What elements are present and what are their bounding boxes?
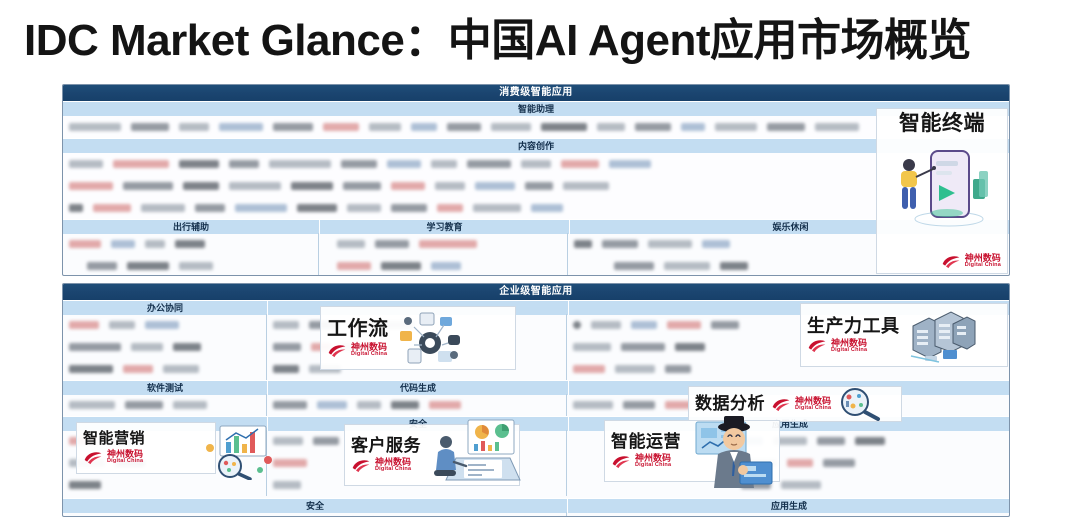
- logo-column-security: [63, 512, 567, 517]
- category-band-content-creation: 内容创作: [63, 138, 1009, 153]
- vendor-logo: [273, 481, 301, 489]
- vendor-logo: [597, 123, 625, 131]
- vendor-logo: [715, 123, 757, 131]
- vendor-logo: [391, 204, 427, 212]
- vendor-logo: [173, 401, 207, 409]
- vendor-logo: [711, 321, 739, 329]
- callout-title: 生产力工具: [807, 317, 900, 336]
- vendor-logo: [313, 437, 339, 445]
- callout-smart-marketing[interactable]: 智能营销 神州数码 Digital China: [76, 422, 216, 474]
- vendor-logo: [235, 204, 287, 212]
- vendor-logo: [391, 401, 419, 409]
- vendor-logo: [635, 123, 671, 131]
- category-band-intelligent-assistant: 智能助理: [63, 101, 1009, 116]
- vendor-logo: [591, 321, 621, 329]
- category-band-office-collaboration: 办公协同: [63, 300, 268, 315]
- vendor-logo: [343, 182, 381, 190]
- brand-name-en: Digital China: [375, 467, 411, 473]
- vendor-logo: [173, 343, 201, 351]
- vendor-logo: [375, 240, 409, 248]
- vendor-logo: [69, 481, 101, 489]
- vendor-logo: [609, 160, 651, 168]
- vendor-logo: [435, 182, 465, 190]
- vendor-logo: [665, 365, 691, 373]
- vendor-logo: [273, 401, 307, 409]
- vendor-logo: [531, 204, 563, 212]
- brand-name-en: Digital China: [107, 459, 143, 465]
- vendor-logo: [631, 321, 657, 329]
- vendor-logo: [614, 262, 654, 270]
- vendor-logo: [681, 123, 705, 131]
- vendor-logo: [541, 123, 587, 131]
- server-illustration: [905, 306, 977, 364]
- vendor-logo: [323, 123, 359, 131]
- vendor-logo: [623, 401, 655, 409]
- logo-grid-enterprise-bottom: [63, 512, 1009, 517]
- digital-china-logo-icon: [771, 397, 791, 412]
- chart-magnifier-illustration: [196, 424, 280, 480]
- vendor-logo: [521, 160, 551, 168]
- callout-title: 客户服务: [351, 437, 421, 455]
- vendor-logo: [123, 365, 153, 373]
- callout-title: 智能终端: [899, 113, 985, 135]
- vendor-logo: [179, 160, 219, 168]
- callout-smart-terminal[interactable]: 智能终端 神州数码 Digital China: [876, 108, 1008, 274]
- digital-china-brand: 神州数码 Digital China: [351, 458, 421, 473]
- vendor-logo: [69, 365, 113, 373]
- vendor-logo: [720, 262, 748, 270]
- logo-row: [567, 512, 1009, 517]
- vendor-logo: [219, 123, 263, 131]
- logo-row: [63, 314, 266, 336]
- vendor-logo: [131, 123, 169, 131]
- digital-china-logo-icon: [83, 450, 103, 465]
- logo-row: [63, 336, 266, 358]
- callout-productivity-tools[interactable]: 生产力工具 神州数码 Digital China: [800, 303, 1008, 367]
- callout-title: 工作流: [327, 319, 389, 340]
- vendor-logo: [123, 182, 173, 190]
- callout-title: 智能运营: [611, 433, 681, 451]
- logo-column-travel: [63, 233, 319, 276]
- vendor-logo: [69, 401, 115, 409]
- vendor-logo: [317, 401, 347, 409]
- digital-china-brand: 神州数码 Digital China: [771, 397, 831, 412]
- vendor-logo: [447, 123, 481, 131]
- vendor-logo: [815, 123, 859, 131]
- digital-china-logo-icon: [351, 458, 371, 473]
- logo-row: [63, 394, 266, 416]
- logo-row: [63, 233, 318, 255]
- brand-name-en: Digital China: [795, 406, 831, 412]
- magnifier-illustration: [836, 387, 882, 421]
- vendor-logo: [602, 240, 638, 248]
- vendor-logo: [664, 262, 710, 270]
- category-row-consumer-tertiary: 出行辅助 学习教育 娱乐休闲: [63, 219, 1009, 233]
- vendor-logo: [145, 240, 165, 248]
- vendor-logo: [855, 437, 885, 445]
- logo-row: [267, 394, 566, 416]
- vendor-logo: [69, 343, 121, 351]
- logo-grid-consumer-tertiary: [63, 233, 1009, 276]
- digital-china-logo-icon: [807, 338, 827, 353]
- logo-column-education: [319, 233, 568, 276]
- vendor-logo: [111, 240, 135, 248]
- logo-row: [63, 512, 566, 517]
- vendor-logo: [381, 262, 421, 270]
- category-band-code-generation: 代码生成: [268, 380, 569, 395]
- vendor-logo: [341, 160, 377, 168]
- vendor-logo: [69, 160, 103, 168]
- section-header-enterprise: 企业级智能应用: [63, 284, 1009, 300]
- category-band-learning-education: 学习教育: [320, 219, 570, 234]
- vendor-logo: [273, 365, 299, 373]
- vendor-logo: [69, 182, 113, 190]
- businessman-illustration: [688, 414, 784, 490]
- vendor-logo: [431, 160, 457, 168]
- brand-name-en: Digital China: [965, 263, 1001, 269]
- phone-illustration: [887, 139, 997, 231]
- vendor-logo: [337, 240, 365, 248]
- vendor-logo: [781, 481, 821, 489]
- logo-row: [63, 197, 1009, 219]
- callout-title: 数据分析: [695, 395, 765, 413]
- vendor-logo: [437, 204, 463, 212]
- vendor-logo: [767, 123, 805, 131]
- vendor-logo: [702, 240, 730, 248]
- logo-column-app-gen: [567, 512, 1009, 517]
- vendor-logo: [467, 160, 511, 168]
- digital-china-logo-icon: [327, 343, 347, 358]
- digital-china-brand: 神州数码 Digital China: [807, 338, 900, 353]
- digital-china-logo-icon: [611, 454, 631, 469]
- brand-name-en: Digital China: [351, 352, 387, 358]
- logo-row: [319, 233, 567, 255]
- vendor-logo: [525, 182, 553, 190]
- logo-grid-intelligent-assistant: [63, 116, 1009, 138]
- vendor-logo: [179, 123, 209, 131]
- section-header-consumer: 消费级智能应用: [63, 85, 1009, 101]
- vendor-logo: [574, 240, 592, 248]
- vendor-logo: [561, 160, 599, 168]
- vendor-logo: [387, 160, 421, 168]
- workflow-illustration: [394, 309, 466, 367]
- vendor-logo: [297, 204, 337, 212]
- vendor-logo: [675, 343, 705, 351]
- logo-column-testing: [63, 394, 267, 416]
- digital-china-brand: 神州数码 Digital China: [327, 343, 389, 358]
- logo-column-office: [63, 314, 267, 380]
- vendor-logo: [573, 321, 581, 329]
- vendor-logo: [429, 401, 461, 409]
- logo-row: [63, 153, 1009, 175]
- brand-name-en: Digital China: [831, 348, 867, 354]
- vendor-logo: [69, 204, 83, 212]
- logo-column-code-gen: [267, 394, 567, 416]
- category-band-app-generation-bottom: 应用生成: [568, 498, 1010, 513]
- vendor-logo: [229, 182, 281, 190]
- vendor-logo: [113, 160, 169, 168]
- vendor-logo: [491, 123, 531, 131]
- logo-grid-content-creation: [63, 153, 1009, 219]
- vendor-logo: [473, 204, 521, 212]
- digital-china-logo-icon: [941, 254, 961, 269]
- vendor-logo: [269, 160, 331, 168]
- panel-consumer-applications: 消费级智能应用 智能助理 内容创作: [62, 84, 1010, 276]
- vendor-logo: [125, 401, 163, 409]
- vendor-logo: [229, 160, 259, 168]
- vendor-logo: [273, 343, 301, 351]
- vendor-logo: [109, 321, 135, 329]
- vendor-logo: [127, 262, 169, 270]
- vendor-logo: [419, 240, 477, 248]
- vendor-logo: [291, 182, 333, 190]
- vendor-logo: [615, 365, 655, 373]
- laptop-person-illustration: [432, 418, 528, 492]
- vendor-logo: [431, 262, 461, 270]
- vendor-logo: [823, 459, 855, 467]
- brand-name-en: Digital China: [635, 463, 671, 469]
- vendor-logo: [183, 182, 219, 190]
- digital-china-brand: 神州数码 Digital China: [941, 254, 1001, 269]
- logo-row: [63, 255, 318, 276]
- vendor-logo: [87, 262, 117, 270]
- logo-row: [319, 255, 567, 276]
- digital-china-brand: 神州数码 Digital China: [83, 450, 145, 465]
- vendor-logo: [347, 204, 381, 212]
- vendor-logo: [411, 123, 437, 131]
- category-row-enterprise-bottom: 安全 应用生成: [63, 498, 1009, 512]
- vendor-logo: [573, 365, 605, 373]
- vendor-logo: [573, 343, 611, 351]
- callout-workflow[interactable]: 工作流 神州数码 Digital China: [320, 306, 516, 370]
- page-title: IDC Market Glance：中国AI Agent应用市场概览: [24, 12, 1064, 70]
- logo-row: [63, 358, 266, 380]
- vendor-logo: [175, 240, 205, 248]
- vendor-logo: [195, 204, 225, 212]
- vendor-logo: [145, 321, 179, 329]
- logo-row: [63, 116, 1009, 138]
- callout-title: 智能营销: [83, 431, 145, 447]
- vendor-logo: [163, 365, 199, 373]
- vendor-logo: [391, 182, 425, 190]
- vendor-logo: [69, 240, 101, 248]
- category-band-travel-assistance: 出行辅助: [63, 219, 320, 234]
- vendor-logo: [337, 262, 371, 270]
- vendor-logo: [817, 437, 845, 445]
- logo-row: [63, 175, 1009, 197]
- vendor-logo: [357, 401, 381, 409]
- category-band-security-bottom: 安全: [63, 498, 568, 513]
- vendor-logo: [369, 123, 401, 131]
- vendor-logo: [69, 321, 99, 329]
- vendor-logo: [787, 459, 813, 467]
- vendor-logo: [141, 204, 185, 212]
- vendor-logo: [475, 182, 515, 190]
- category-band-software-testing: 软件测试: [63, 380, 268, 395]
- vendor-logo: [273, 123, 313, 131]
- vendor-logo: [93, 204, 131, 212]
- digital-china-brand: 神州数码 Digital China: [611, 454, 681, 469]
- vendor-logo: [648, 240, 692, 248]
- vendor-logo: [563, 182, 609, 190]
- vendor-logo: [179, 262, 213, 270]
- vendor-logo: [273, 321, 299, 329]
- vendor-logo: [131, 343, 163, 351]
- vendor-logo: [667, 321, 701, 329]
- vendor-logo: [621, 343, 665, 351]
- vendor-logo: [69, 123, 121, 131]
- vendor-logo: [573, 401, 613, 409]
